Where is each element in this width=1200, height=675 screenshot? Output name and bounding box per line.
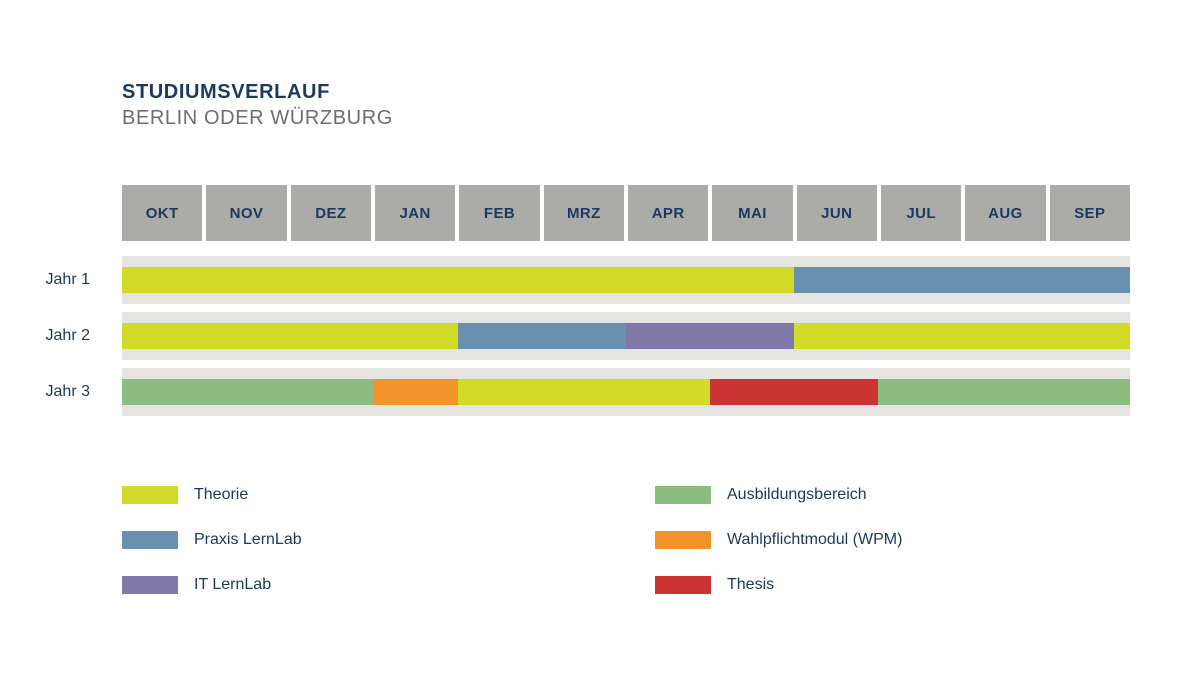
month-header-row: OKTNOVDEZJANFEBMRZAPRMAIJUNJULAUGSEP <box>122 185 1130 241</box>
timeline-segment <box>710 379 878 405</box>
timeline-track <box>122 312 1130 360</box>
legend-label: Theorie <box>194 486 248 504</box>
month-label: OKT <box>146 205 179 222</box>
timeline-segment <box>794 267 1130 293</box>
month-cell-jul: JUL <box>881 185 961 241</box>
month-cell-apr: APR <box>628 185 708 241</box>
month-cell-dez: DEZ <box>291 185 371 241</box>
legend-swatch-icon <box>655 576 711 594</box>
page-subtitle: BERLIN ODER WÜRZBURG <box>122 105 393 132</box>
legend-swatch-icon <box>122 486 178 504</box>
timeline-rows: Jahr 1Jahr 2Jahr 3 <box>0 256 1200 424</box>
timeline-segment <box>122 379 374 405</box>
legend-swatch-icon <box>655 531 711 549</box>
month-label: DEZ <box>315 205 346 222</box>
legend: TheorieAusbildungsbereichPraxis LernLabW… <box>122 472 1102 607</box>
legend-item: Wahlpflichtmodul (WPM) <box>655 517 1102 562</box>
month-cell-nov: NOV <box>206 185 286 241</box>
month-label: MAI <box>738 205 767 222</box>
legend-item: Praxis LernLab <box>122 517 655 562</box>
timeline-segment <box>458 379 710 405</box>
row-label-year-2: Jahr 2 <box>0 312 106 360</box>
month-cell-aug: AUG <box>965 185 1045 241</box>
month-cell-jan: JAN <box>375 185 455 241</box>
legend-swatch-icon <box>122 576 178 594</box>
timeline-track <box>122 368 1130 416</box>
page-title: STUDIUMSVERLAUF <box>122 80 393 105</box>
timeline-row: Jahr 2 <box>0 312 1200 360</box>
month-cell-feb: FEB <box>459 185 539 241</box>
timeline-row: Jahr 1 <box>0 256 1200 304</box>
timeline-track <box>122 256 1130 304</box>
timeline-segment <box>122 323 458 349</box>
month-cell-sep: SEP <box>1050 185 1130 241</box>
month-cell-mai: MAI <box>712 185 792 241</box>
legend-item: Thesis <box>655 562 1102 607</box>
month-label: FEB <box>484 205 515 222</box>
timeline-segment <box>122 267 794 293</box>
study-timeline-infographic: STUDIUMSVERLAUF BERLIN ODER WÜRZBURG OKT… <box>0 0 1200 675</box>
month-label: NOV <box>230 205 264 222</box>
title-block: STUDIUMSVERLAUF BERLIN ODER WÜRZBURG <box>122 80 393 132</box>
timeline-segment <box>458 323 626 349</box>
timeline-segment <box>626 323 794 349</box>
timeline-segment <box>878 379 1130 405</box>
legend-item: Ausbildungsbereich <box>655 472 1102 517</box>
timeline-bar <box>122 267 1130 293</box>
legend-swatch-icon <box>655 486 711 504</box>
month-cell-jun: JUN <box>797 185 877 241</box>
timeline-segment <box>374 379 458 405</box>
legend-label: IT LernLab <box>194 576 271 594</box>
timeline-row: Jahr 3 <box>0 368 1200 416</box>
month-label: SEP <box>1074 205 1105 222</box>
month-label: AUG <box>988 205 1023 222</box>
row-label-year-3: Jahr 3 <box>0 368 106 416</box>
timeline-bar <box>122 379 1130 405</box>
legend-label: Thesis <box>727 576 774 594</box>
legend-label: Wahlpflichtmodul (WPM) <box>727 531 902 549</box>
month-cell-okt: OKT <box>122 185 202 241</box>
legend-swatch-icon <box>122 531 178 549</box>
month-label: JUL <box>906 205 936 222</box>
month-label: JAN <box>400 205 431 222</box>
legend-item: Theorie <box>122 472 655 517</box>
month-label: MRZ <box>567 205 601 222</box>
legend-label: Ausbildungsbereich <box>727 486 867 504</box>
legend-label: Praxis LernLab <box>194 531 302 549</box>
month-cell-mrz: MRZ <box>544 185 624 241</box>
timeline-segment <box>794 323 1130 349</box>
legend-item: IT LernLab <box>122 562 655 607</box>
month-label: APR <box>652 205 685 222</box>
month-label: JUN <box>821 205 852 222</box>
row-label-year-1: Jahr 1 <box>0 256 106 304</box>
timeline-bar <box>122 323 1130 349</box>
